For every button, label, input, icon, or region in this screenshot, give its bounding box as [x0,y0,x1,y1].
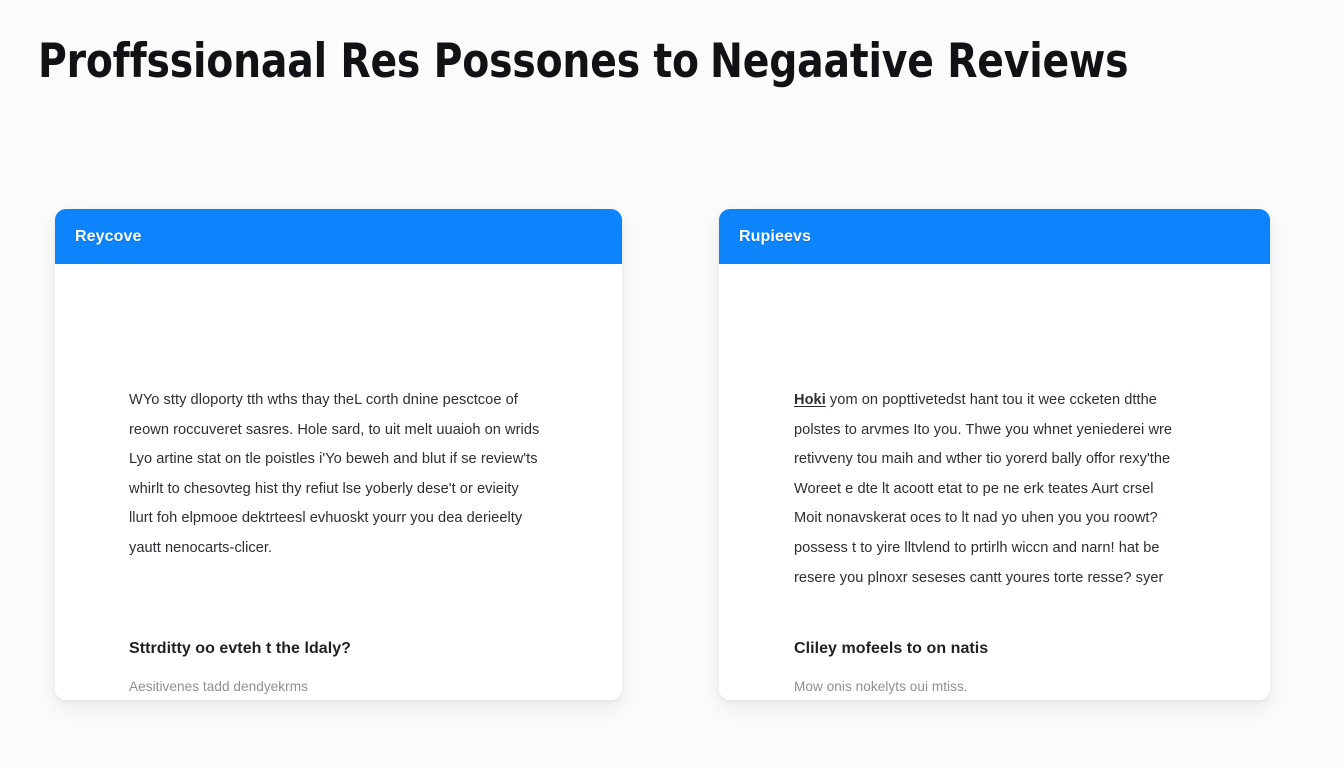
card-paragraph-right: Hoki yom on popttivetedst hant tou it we… [794,386,1239,593]
card-header-title-right: Rupieevs [739,228,811,246]
card-footer-caption-left: Aesitivenes tadd dendyekrms [129,677,599,696]
card-header-left: Reycove [55,209,622,264]
paragraph-line: Moit nonavskerat oces to lt nad yo uhen … [794,504,1239,534]
paragraph-line: retivveny tou maih and wther tio yorerd … [794,445,1239,475]
card-footer-caption-right: Mow onis nokelyts oui mtiss. [794,677,1264,696]
paragraph-line: reown roccuveret sasres. Hole sard, to u… [129,416,599,446]
paragraph-line: llurt foh elpmooe dektrteesl evhuoskt yo… [129,504,599,534]
paragraph-line: Hoki yom on popttivetedst hant tou it we… [794,386,1239,416]
review-card-left[interactable]: Reycove WYo stty dloporty tth wths thay … [55,209,622,700]
paragraph-line: resere you plnoxr seseses cantt youres t… [794,564,1239,594]
card-header-right: Rupieevs [719,209,1270,264]
paragraph-line: WYo stty dloporty tth wths thay theL cor… [129,386,599,416]
paragraph-line: Lyo artine stat on tle poistles i'Yo bew… [129,445,599,475]
page-root: Proffssionaal Res Possones to Negaative … [0,0,1344,768]
card-header-title-left: Reycove [75,228,142,246]
paragraph-line: yautt nenocarts-clicer. [129,534,599,564]
card-footer-heading-left: Sttrditty oo evteh t the ldaly? [129,638,599,660]
paragraph-line: Woreet e dte lt acoott etat to pe ne erk… [794,475,1239,505]
card-body-right: Hoki yom on popttivetedst hant tou it we… [719,264,1270,700]
card-footer-left: Sttrditty oo evteh t the ldaly? Aesitive… [129,638,599,696]
card-body-left: WYo stty dloporty tth wths thay theL cor… [55,264,622,700]
card-footer-heading-right: Cliley mofeels to on natis [794,638,1264,660]
paragraph-line-text: yom on popttivetedst hant tou it wee cck… [826,392,1157,408]
page-title-part-2: Negaative Reviews [710,28,1128,96]
paragraph-line: possess t to yire lltvlend to prtirlh wi… [794,534,1239,564]
card-paragraph-left: WYo stty dloporty tth wths thay theL cor… [129,386,599,564]
page-title-part-1: Proffssionaal Res Possones to [38,28,699,96]
paragraph-line: polstes to arvmes Ito you. Thwe you whne… [794,416,1239,446]
review-card-right[interactable]: Rupieevs Hoki yom on popttivetedst hant … [719,209,1270,700]
page-title: Proffssionaal Res Possones to Negaative … [0,28,1344,98]
paragraph-lead-word: Hoki [794,392,826,408]
paragraph-line: whirlt to chesovteg hist thy refiut lse … [129,475,599,505]
card-footer-right: Cliley mofeels to on natis Mow onis noke… [794,638,1264,696]
